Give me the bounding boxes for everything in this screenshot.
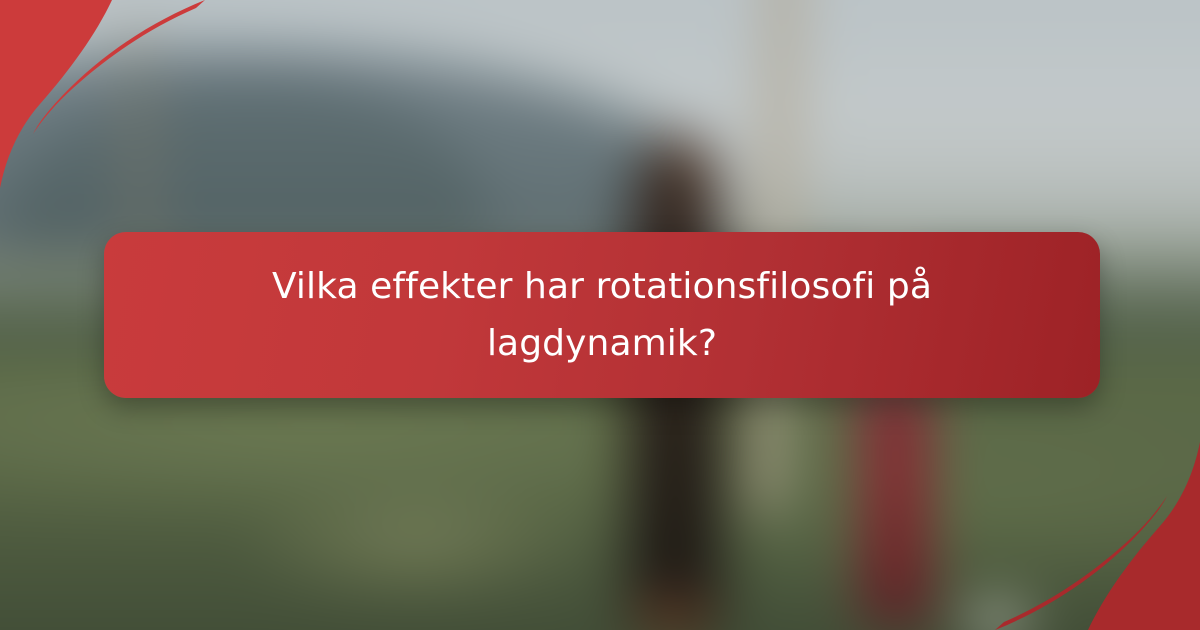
background-figure-dark-shoe xyxy=(643,605,709,630)
question-card: Vilka effekter har rotationsfilosofi på … xyxy=(104,232,1100,398)
share-card-canvas: Vilka effekter har rotationsfilosofi på … xyxy=(0,0,1200,630)
question-title: Vilka effekter har rotationsfilosofi på … xyxy=(252,258,952,372)
background-figure-red-trousers xyxy=(863,380,929,625)
background-grass-highlight xyxy=(231,478,600,609)
background-figure-red-shoe xyxy=(962,609,1032,630)
